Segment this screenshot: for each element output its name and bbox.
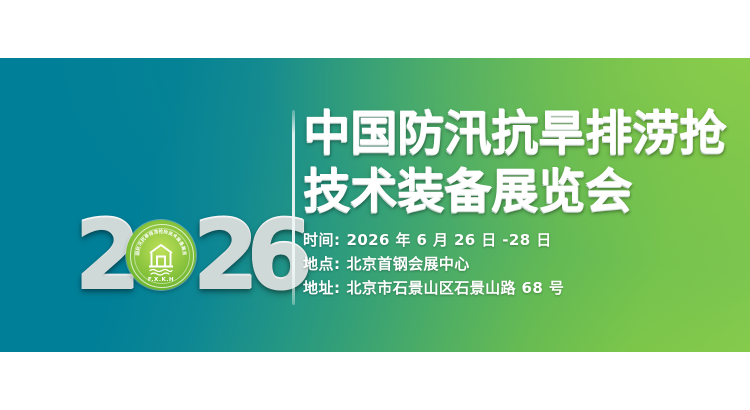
emblem-arc-text: 中国防汛抗旱排涝抢险技术装备展览会 <box>126 220 188 256</box>
exhibition-emblem-logo: 中国防汛抗旱排涝抢险技术装备展览会 F.X. <box>126 220 196 290</box>
detail-row-address: 地址: 北京市石景山区石景山路 68 号 <box>303 277 564 301</box>
year-lockup: 2 2 6 中国防汛抗旱排涝抢险技术装备展览会 <box>74 204 292 304</box>
detail-row-venue: 地点: 北京首钢会展中心 <box>303 253 564 277</box>
vertical-divider <box>292 110 295 305</box>
headline: 中国防汛抗旱排涝抢 技术装备展览会 <box>303 105 750 221</box>
year-digit-4: 6 <box>246 204 310 304</box>
banner-stage: 2 2 6 中国防汛抗旱排涝抢险技术装备展览会 <box>0 0 750 410</box>
waves-icon <box>150 270 172 276</box>
gate-icon <box>149 245 173 267</box>
emblem-artwork: 中国防汛抗旱排涝抢险技术装备展览会 F.X. <box>126 220 196 290</box>
emblem-initials: F.X.K.H <box>148 277 174 283</box>
detail-value-address: 北京市石景山区石景山路 68 号 <box>347 277 565 298</box>
detail-label-venue: 地点: <box>303 253 341 274</box>
event-details: 时间: 2026 年 6 月 26 日 -28 日 地点: 北京首钢会展中心 地… <box>303 229 564 301</box>
detail-value-venue: 北京首钢会展中心 <box>347 253 470 274</box>
detail-label-date: 时间: <box>303 229 341 250</box>
detail-value-date: 2026 年 6 月 26 日 -28 日 <box>347 229 552 250</box>
detail-label-address: 地址: <box>303 277 341 298</box>
detail-row-date: 时间: 2026 年 6 月 26 日 -28 日 <box>303 229 564 253</box>
headline-line-1: 中国防汛抗旱排涝抢 <box>303 105 750 163</box>
headline-line-2: 技术装备展览会 <box>303 163 750 221</box>
exhibition-banner: 2 2 6 中国防汛抗旱排涝抢险技术装备展览会 <box>0 58 750 352</box>
